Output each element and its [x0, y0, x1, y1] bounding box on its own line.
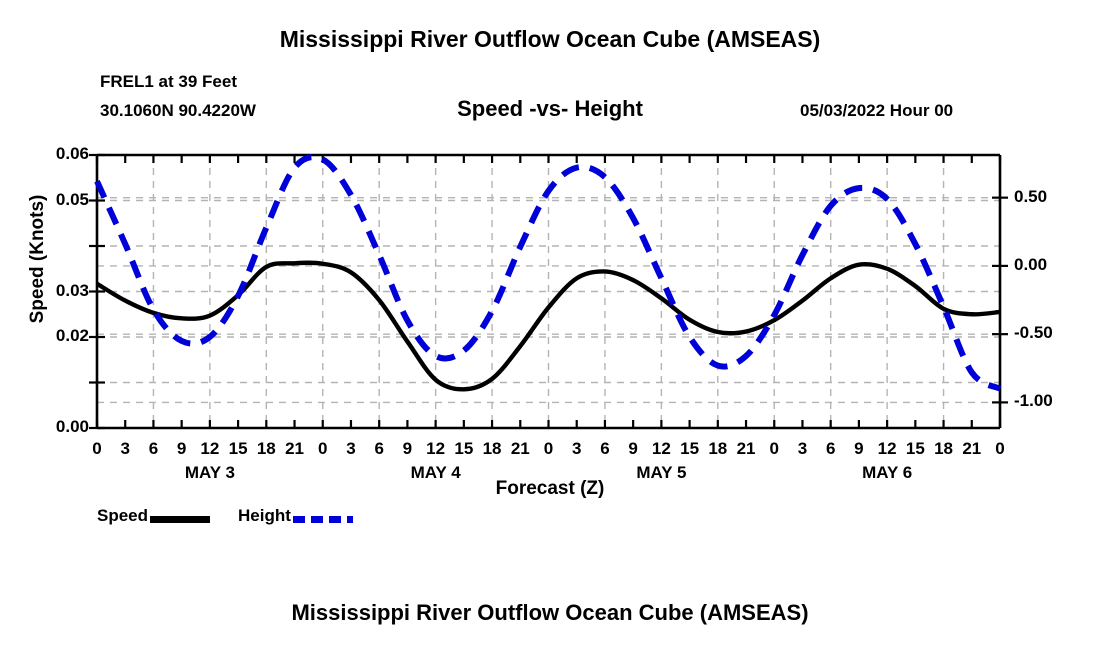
y-axis-left-tick-label: 0.02: [33, 326, 89, 346]
y-axis-left-tick-label: 0.06: [33, 144, 89, 164]
legend-swatch-solid: [150, 516, 210, 523]
y-axis-left-tick-label: 0.00: [33, 417, 89, 437]
forecast-timestamp: 05/03/2022 Hour 00: [800, 101, 953, 121]
series-line-height: [97, 157, 1000, 389]
line-height: [97, 157, 1000, 389]
y-axis-right-tick-label: -1.00: [1014, 391, 1084, 411]
page-title: Mississippi River Outflow Ocean Cube (AM…: [0, 26, 1100, 53]
x-axis-day-label: MAY 4: [376, 463, 496, 483]
series-line-speed: [97, 263, 1000, 390]
y-axis-right-tick-label: 0.00: [1014, 255, 1084, 275]
y-axis-left-tick-label: 0.03: [33, 281, 89, 301]
x-axis-day-label: MAY 3: [150, 463, 270, 483]
legend-swatch-dashed: [293, 516, 353, 523]
station-label: FREL1 at 39 Feet: [100, 72, 237, 92]
y-axis-right-tick-label: 0.50: [1014, 187, 1084, 207]
page-footer-title: Mississippi River Outflow Ocean Cube (AM…: [0, 600, 1100, 626]
x-axis-tick-label: 0: [980, 439, 1020, 459]
y-axis-left-tick-label: 0.05: [33, 190, 89, 210]
x-axis-day-label: MAY 6: [827, 463, 947, 483]
y-axis-right-tick-label: -0.50: [1014, 323, 1084, 343]
gridlines: [97, 155, 1000, 428]
line-speed: [97, 263, 1000, 390]
axis-lines: [97, 155, 1000, 428]
chart-page: Mississippi River Outflow Ocean Cube (AM…: [0, 0, 1100, 650]
tick-marks: [89, 155, 1008, 428]
legend-label: Height: [238, 506, 291, 526]
x-axis-day-label: MAY 5: [601, 463, 721, 483]
legend-label: Speed: [97, 506, 148, 526]
